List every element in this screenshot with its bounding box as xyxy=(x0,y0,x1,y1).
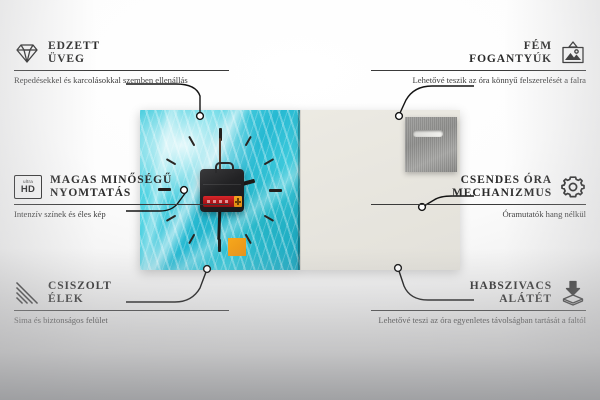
panel-seam xyxy=(298,110,301,270)
feature-habszivacs-alatet: HABSZIVACS ALÁTÉT Lehetővé teszi az óra … xyxy=(371,280,586,326)
feature-magas-minosegu-nyomtatas: ultra HD MAGAS MINŐSÉGŰ NYOMTATÁS Intenz… xyxy=(14,174,229,220)
feature-csendes-ora-mechanizmus: CSENDES ÓRA MECHANIZMUS Óramutatók hang … xyxy=(371,174,586,220)
battery-terminal xyxy=(234,196,242,207)
feature-divider xyxy=(14,70,229,71)
feature-fem-fogantyuk: FÉM FOGANTYÚK Lehetővé teszik az óra kön… xyxy=(371,40,586,86)
feature-title-line1: CSISZOLT xyxy=(48,280,112,292)
feature-description: Lehetővé teszi az óra egyenletes távolsá… xyxy=(371,315,586,326)
feature-csiszolt-elek: CSISZOLT ÉLEK Sima és biztonságos felüle… xyxy=(14,280,229,326)
feature-divider xyxy=(14,310,229,311)
feature-divider xyxy=(14,204,229,205)
feature-title-line2: NYOMTATÁS xyxy=(50,187,131,199)
feature-divider xyxy=(371,204,586,205)
mechanism-hanger-loop xyxy=(215,162,234,173)
feature-title-line2: ALÁTÉT xyxy=(499,293,552,305)
feature-title-line2: ÉLEK xyxy=(48,293,84,305)
feature-title-line2: ÜVEG xyxy=(48,53,85,65)
feature-description: Repedésekkel és karcolásokkal szemben el… xyxy=(14,75,229,86)
feature-description: Sima és biztonságos felület xyxy=(14,315,229,326)
feature-title-line2: MECHANIZMUS xyxy=(452,187,552,199)
feature-divider xyxy=(371,310,586,311)
infographic-canvas: EDZETT ÜVEG Repedésekkel és karcolásokka… xyxy=(0,0,600,400)
feature-title-line1: HABSZIVACS xyxy=(470,280,552,292)
ultra-hd-main: HD xyxy=(21,185,35,195)
picture-hanger-icon xyxy=(560,40,586,66)
foam-pad-icon xyxy=(560,280,586,306)
feature-description: Lehetővé teszik az óra könnyű felszerelé… xyxy=(371,75,586,86)
hanger-slot xyxy=(413,130,443,137)
diamond-icon xyxy=(14,40,40,66)
polished-edges-icon xyxy=(14,280,40,306)
feature-title-line1: EDZETT xyxy=(48,40,100,52)
feature-title-line2: FOGANTYÚK xyxy=(469,53,552,65)
feature-description: Intenzív színek és éles kép xyxy=(14,209,229,220)
feature-title-line1: CSENDES ÓRA xyxy=(461,174,552,186)
feature-title-line1: MAGAS MINŐSÉGŰ xyxy=(50,174,172,186)
gear-icon xyxy=(560,174,586,200)
feature-description: Óramutatók hang nélkül xyxy=(371,209,586,220)
feature-divider xyxy=(371,70,586,71)
ultra-hd-icon: ultra HD xyxy=(14,175,42,199)
metal-hanger-plate xyxy=(405,117,457,172)
feature-edzett-uveg: EDZETT ÜVEG Repedésekkel és karcolásokka… xyxy=(14,40,229,86)
feature-title-line1: FÉM xyxy=(524,40,552,52)
foam-pad xyxy=(228,238,246,256)
